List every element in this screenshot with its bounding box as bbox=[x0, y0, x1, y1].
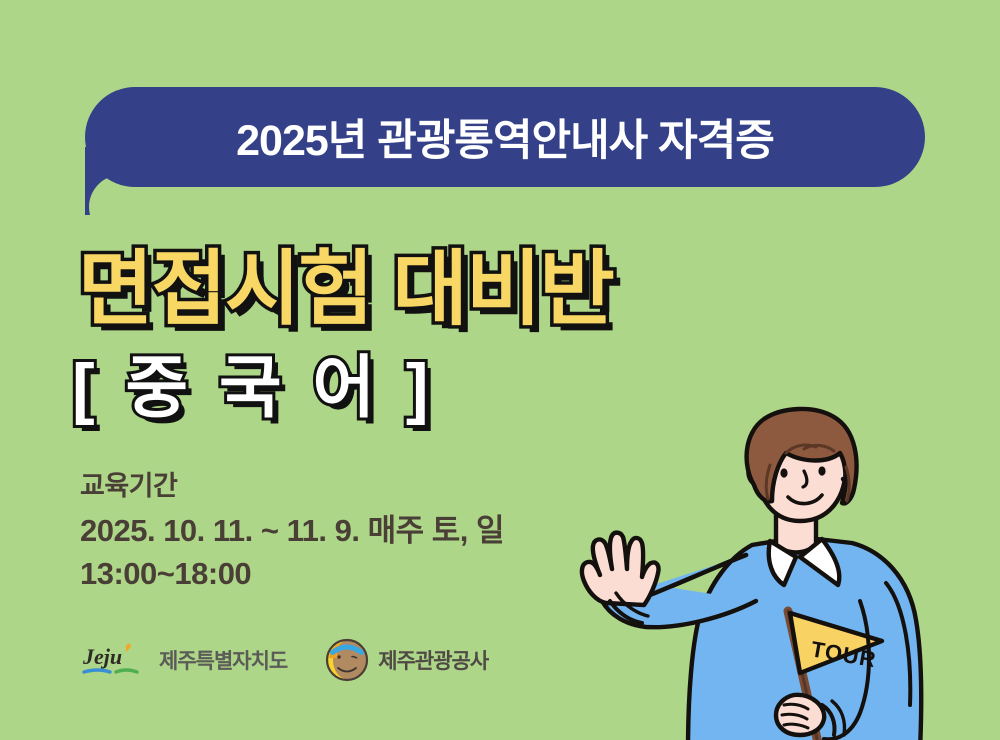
logo-jeju-province: Jeju 제주특별자치도 bbox=[80, 639, 287, 681]
jeju-wordmark-icon: Jeju bbox=[80, 639, 150, 681]
logo-label-jeju-tourism: 제주관광공사 bbox=[378, 645, 488, 675]
info-block: 교육기간 2025. 10. 11. ~ 11. 9. 매주 토, 일 13:0… bbox=[80, 468, 504, 596]
info-period-time: 13:00~18:00 bbox=[80, 553, 504, 596]
footer-logos: Jeju 제주특별자치도 제주관광공사 bbox=[80, 638, 488, 682]
poster-canvas: 2025년 관광통역안내사 자격증 면접시험 대비반 [ 중 국 어 ] 교육기… bbox=[0, 0, 1000, 740]
logo-label-jeju-province: 제주특별자치도 bbox=[159, 645, 287, 675]
jeju-tourism-organization-icon bbox=[325, 638, 369, 682]
logo-jeju-tourism: 제주관광공사 bbox=[325, 638, 488, 682]
tour-guide-character-icon: TOUR bbox=[560, 405, 1000, 740]
tour-guide-illustration: TOUR bbox=[560, 405, 1000, 740]
svg-text:Jeju: Jeju bbox=[82, 644, 122, 669]
headline-main: 면접시험 대비반 bbox=[78, 222, 613, 341]
header-speech-bubble: 2025년 관광통역안내사 자격증 bbox=[85, 87, 925, 187]
info-label-period: 교육기간 bbox=[80, 468, 504, 504]
header-title: 2025년 관광통역안내사 자격증 bbox=[85, 87, 925, 187]
info-period-dates: 2025. 10. 11. ~ 11. 9. 매주 토, 일 bbox=[80, 510, 504, 553]
headline-sub-language: [ 중 국 어 ] bbox=[72, 332, 435, 431]
